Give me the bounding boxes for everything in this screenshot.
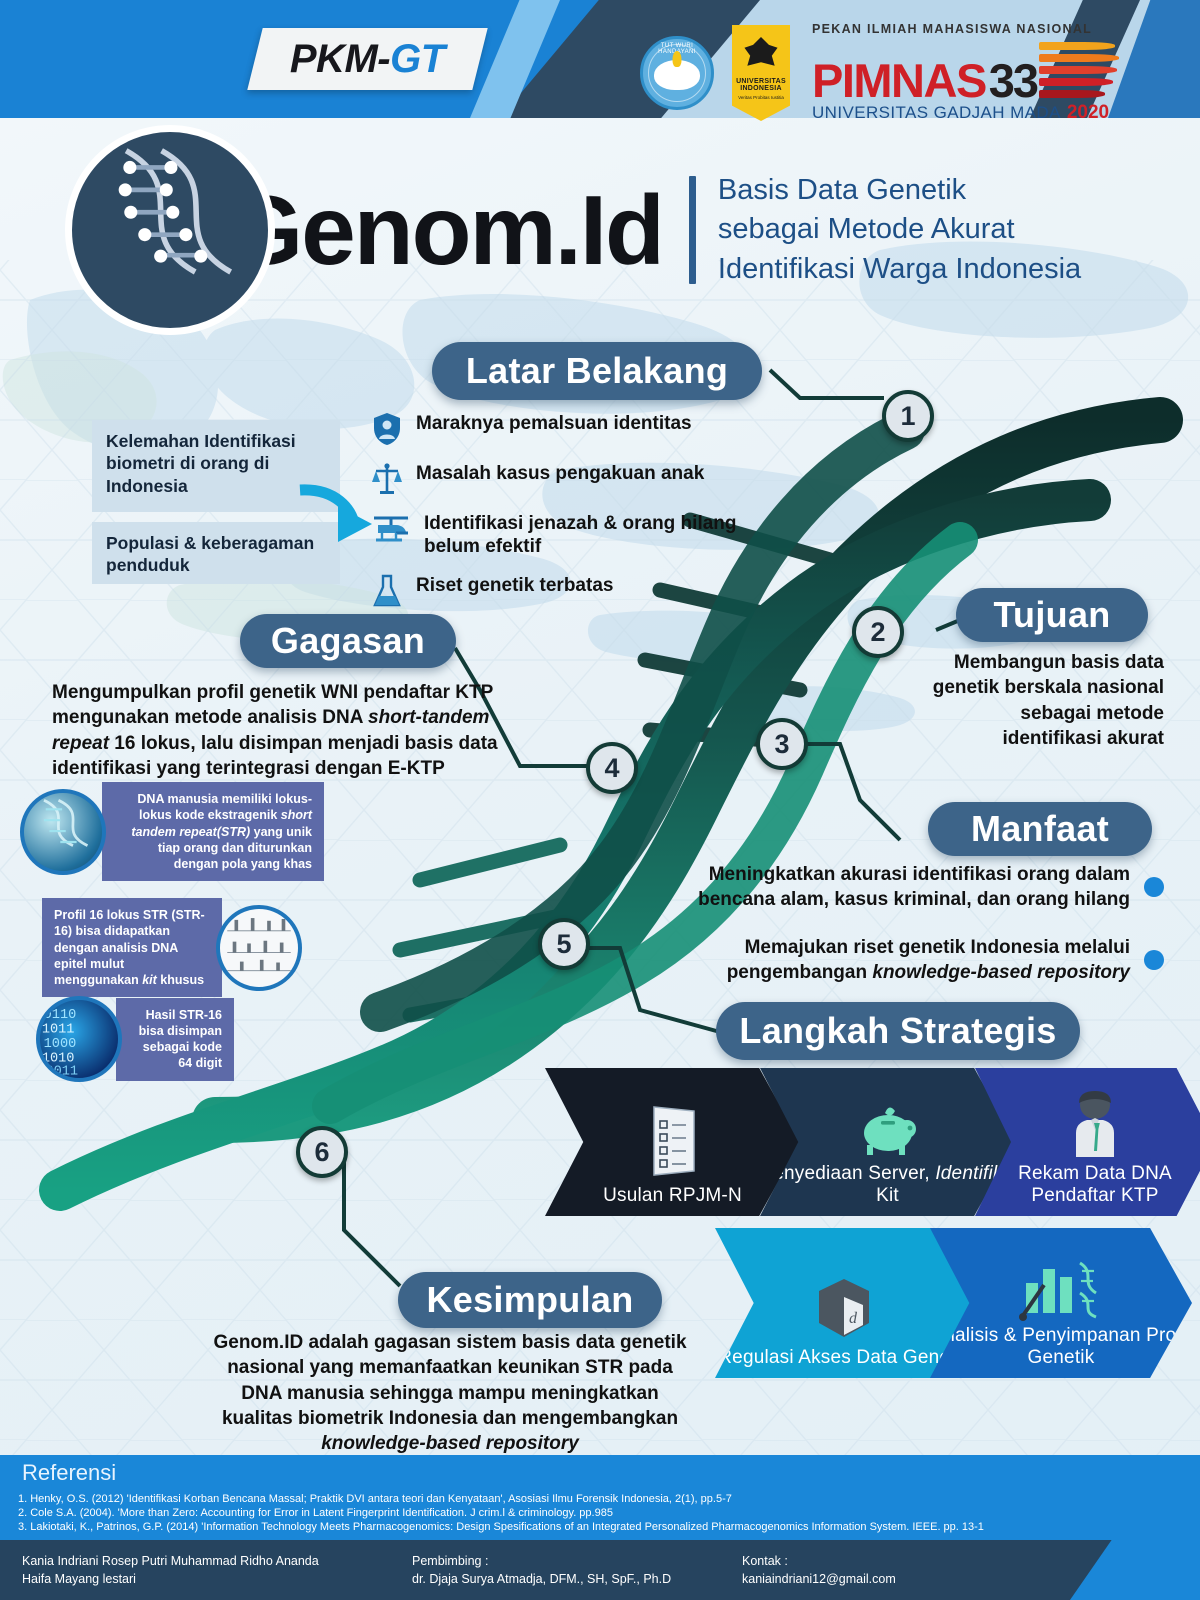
step-chevron-3: d Regulasi Akses Data Genetik bbox=[715, 1228, 973, 1378]
tut-wuri-handayani-logo-icon: TUT WURI HANDAYANI bbox=[640, 36, 714, 110]
node-6-number: 6 bbox=[314, 1137, 329, 1168]
footer-authors-line-2: Haifa Mayang lestari bbox=[22, 1570, 412, 1588]
node-2: 2 bbox=[852, 606, 904, 658]
gagasan-callout-2: 0110 1011 1000 1010 0011 Hasil STR-16 bi… bbox=[36, 996, 234, 1082]
manfaat-item-0: Meningkatkan akurasi identifikasi orang … bbox=[664, 862, 1164, 913]
program-tag-accent: GT bbox=[390, 37, 445, 81]
tujuan-label: Tujuan bbox=[993, 594, 1110, 636]
step-1-post: Kit bbox=[876, 1185, 899, 1206]
section-heading-tujuan: Tujuan bbox=[956, 588, 1148, 642]
kesimpulan-body-pre: Genom.ID adalah gagasan sistem basis dat… bbox=[213, 1332, 686, 1429]
svg-text:1000: 1000 bbox=[44, 1037, 77, 1052]
section-heading-kesimpulan: Kesimpulan bbox=[398, 1272, 662, 1328]
gagasan-body: Mengumpulkan profil genetik WNI pendafta… bbox=[52, 680, 544, 781]
node-3: 3 bbox=[756, 718, 808, 770]
piggy-bank-icon bbox=[855, 1097, 921, 1159]
section-heading-langkah-strategis: Langkah Strategis bbox=[716, 1002, 1080, 1060]
pimnas-tagline: PEKAN ILMIAH MAHASISWA NASIONAL bbox=[812, 22, 1119, 36]
step-3-label: Regulasi Akses Data Genetik bbox=[718, 1347, 969, 1368]
step-chevron-1: Penyediaan Server, Identifiler Kit bbox=[760, 1068, 1015, 1216]
step-1-pre: Penyediaan Server, bbox=[760, 1163, 935, 1184]
footer-content: Kania Indriani Rosep Putri Muhammad Ridh… bbox=[0, 1540, 1200, 1600]
gagasan-callout-2-text: Hasil STR-16 bisa disimpan sebagai kode … bbox=[116, 998, 234, 1081]
pimnas-year: 2020 bbox=[1067, 102, 1109, 124]
makara-icon bbox=[743, 37, 779, 73]
subtitle-line-1: Basis Data Genetik bbox=[718, 171, 1081, 210]
node-6: 6 bbox=[296, 1126, 348, 1178]
step-chevron-0: Usulan RPJM-N bbox=[545, 1068, 800, 1216]
footer-authors: Kania Indriani Rosep Putri Muhammad Ridh… bbox=[22, 1552, 412, 1588]
binary-code-photo-icon: 0110 1011 1000 1010 0011 bbox=[36, 996, 122, 1082]
gagasan-callout-1-text: Profil 16 lokus STR (STR-16) bisa didapa… bbox=[42, 898, 222, 997]
gagasan-body-post: 16 lokus, lalu disimpan menjadi basis da… bbox=[52, 733, 498, 779]
footer-supervisor: Pembimbing : dr. Djaja Surya Atmadja, DF… bbox=[412, 1552, 742, 1588]
references-list: 1. Henky, O.S. (2012) 'Identifikasi Korb… bbox=[18, 1492, 1198, 1534]
gagasan-callout-1: Profil 16 lokus STR (STR-16) bisa didapa… bbox=[42, 898, 302, 997]
bullet-item-3: Riset genetik terbatas bbox=[372, 574, 772, 608]
step-2-pre: Rekam Data DNA Pendaftar KTP bbox=[1018, 1163, 1172, 1205]
bullet-item-0: Maraknya pemalsuan identitas bbox=[372, 412, 772, 446]
dna-logo-icon bbox=[72, 132, 268, 328]
node-5: 5 bbox=[538, 918, 590, 970]
bullet-label-3: Riset genetik terbatas bbox=[416, 574, 613, 597]
checklist-document-icon bbox=[642, 1105, 704, 1179]
section-heading-manfaat: Manfaat bbox=[928, 802, 1152, 856]
manfaat-item-0-text: Meningkatkan akurasi identifikasi orang … bbox=[664, 862, 1130, 913]
step-2-label: Rekam Data DNA Pendaftar KTP bbox=[975, 1163, 1200, 1206]
callout-1-em: kit bbox=[142, 973, 157, 987]
program-tag: PKM-GT bbox=[247, 28, 487, 90]
references-title: Referensi bbox=[22, 1460, 116, 1486]
node-2-number: 2 bbox=[870, 617, 885, 648]
genom-id-logo-mark bbox=[65, 125, 275, 335]
section-heading-gagasan: Gagasan bbox=[240, 614, 456, 668]
pimnas-edition-number: 33 bbox=[989, 59, 1037, 102]
step-4-label: Analisis & Penyimpanan Profil Genetik bbox=[930, 1325, 1192, 1368]
bullet-label-0: Maraknya pemalsuan identitas bbox=[416, 412, 692, 435]
logos-row: TUT WURI HANDAYANI UNIVERSITAS INDONESIA… bbox=[640, 22, 1119, 124]
manfaat-bullet-dot-1 bbox=[1144, 950, 1164, 970]
svg-text:0011: 0011 bbox=[45, 1064, 78, 1078]
footer-contact-value: kaniaindriani12@gmail.com bbox=[742, 1570, 1122, 1588]
manfaat-bullet-dot-0 bbox=[1144, 877, 1164, 897]
callout-2-pre: Hasil STR-16 bisa disimpan sebagai kode … bbox=[139, 1008, 222, 1071]
reference-item-1: 2. Cole S.A. (2004). 'More than Zero: Ac… bbox=[18, 1506, 1198, 1520]
manfaat-item-1-text: Memajukan riset genetik Indonesia melalu… bbox=[664, 935, 1130, 986]
footer-supervisor-name: dr. Djaja Surya Atmadja, DFM., SH, SpF.,… bbox=[412, 1570, 742, 1588]
kesimpulan-label: Kesimpulan bbox=[426, 1279, 633, 1321]
latar-belakang-label: Latar Belakang bbox=[466, 350, 728, 392]
bullet-item-2: Identifikasi jenazah & orang hilang belu… bbox=[372, 512, 772, 558]
reference-item-2: 3. Lakiotaki, K., Patrinos, G.P. (2014) … bbox=[18, 1520, 1198, 1534]
dna-strand-photo-icon bbox=[20, 789, 106, 875]
str-electropherogram-diagram-icon bbox=[216, 905, 302, 991]
curved-arrow-icon bbox=[292, 484, 382, 548]
manfaat-item-1: Memajukan riset genetik Indonesia melalu… bbox=[664, 935, 1164, 986]
bullet-label-2: Identifikasi jenazah & orang hilang belu… bbox=[424, 512, 772, 558]
manfaat-1-em: knowledge-based repository bbox=[872, 962, 1130, 983]
svg-text:d: d bbox=[849, 1310, 858, 1327]
node-1: 1 bbox=[882, 390, 934, 442]
gagasan-callout-0: DNA manusia memiliki lokus-lokus kode ek… bbox=[20, 782, 324, 881]
footer-contact: Kontak : kaniaindriani12@gmail.com bbox=[742, 1552, 1122, 1588]
kesimpulan-body-em: knowledge-based repository bbox=[321, 1433, 579, 1454]
footer-supervisor-label: Pembimbing : bbox=[412, 1552, 742, 1570]
section-heading-latar-belakang: Latar Belakang bbox=[432, 342, 762, 400]
shield-person-icon bbox=[372, 412, 402, 446]
title-divider bbox=[689, 176, 696, 284]
gagasan-label: Gagasan bbox=[271, 620, 425, 662]
subtitle-line-2: sebagai Metode Akurat bbox=[718, 210, 1081, 249]
callout-1-post: khusus bbox=[157, 973, 204, 987]
footer-authors-line-1: Kania Indriani Rosep Putri Muhammad Ridh… bbox=[22, 1552, 412, 1570]
node-3-number: 3 bbox=[774, 729, 789, 760]
person-id-icon bbox=[1066, 1089, 1124, 1159]
latar-belakang-bullets: Maraknya pemalsuan identitas Masalah kas… bbox=[372, 412, 772, 624]
step-0-pre: Usulan RPJM-N bbox=[603, 1185, 742, 1206]
svg-text:0110: 0110 bbox=[44, 1008, 77, 1023]
pimnas-university: UNIVERSITAS GADJAH MADA bbox=[812, 103, 1061, 123]
subtitle-line-3: Identifikasi Warga Indonesia bbox=[718, 250, 1081, 289]
tujuan-body: Membangun basis data genetik berskala na… bbox=[916, 650, 1164, 751]
universitas-indonesia-logo-icon: UNIVERSITAS INDONESIA Veritas Probitas I… bbox=[732, 25, 790, 121]
pimnas-wordmark: PIMNAS bbox=[812, 59, 986, 102]
bullet-item-1: Masalah kasus pengakuan anak bbox=[372, 462, 772, 496]
svg-text:1011: 1011 bbox=[42, 1023, 75, 1038]
poster-subtitle: Basis Data Genetik sebagai Metode Akurat… bbox=[718, 171, 1081, 289]
pimnas-flag-icon bbox=[1039, 36, 1119, 102]
pimnas-logo: PEKAN ILMIAH MAHASISWA NASIONAL PIMNAS 3… bbox=[812, 22, 1119, 124]
infographic-poster: PKM-GT TUT WURI HANDAYANI UNIVERSITAS IN… bbox=[0, 0, 1200, 1600]
step-3-pre: Regulasi Akses Data Genetik bbox=[718, 1347, 969, 1368]
node-4: 4 bbox=[586, 742, 638, 794]
manfaat-0-pre: Meningkatkan akurasi identifikasi orang … bbox=[698, 864, 1130, 910]
step-1-label: Penyediaan Server, Identifiler Kit bbox=[760, 1163, 1015, 1206]
ui-label-3: Veritas Probitas Iustitia bbox=[738, 95, 784, 100]
reference-item-0: 1. Henky, O.S. (2012) 'Identifikasi Korb… bbox=[18, 1492, 1198, 1506]
ui-label-1: UNIVERSITAS bbox=[736, 78, 786, 85]
manfaat-label: Manfaat bbox=[971, 808, 1109, 850]
program-tag-text: PKM- bbox=[290, 37, 390, 81]
node-1-number: 1 bbox=[900, 401, 915, 432]
brand-name: Genom.Id bbox=[227, 181, 663, 279]
footer-contact-label: Kontak : bbox=[742, 1552, 1122, 1570]
manfaat-items: Meningkatkan akurasi identifikasi orang … bbox=[664, 862, 1164, 985]
gagasan-callout-0-text: DNA manusia memiliki lokus-lokus kode ek… bbox=[102, 782, 324, 881]
flask-icon bbox=[372, 574, 402, 608]
node-4-number: 4 bbox=[604, 753, 619, 784]
bar-chart-dna-icon bbox=[1018, 1255, 1104, 1321]
langkah-strategis-label: Langkah Strategis bbox=[739, 1010, 1056, 1052]
step-0-label: Usulan RPJM-N bbox=[603, 1185, 742, 1206]
node-5-number: 5 bbox=[556, 929, 571, 960]
step-4-pre: Analisis & Penyimpanan Profil Genetik bbox=[931, 1325, 1190, 1367]
kesimpulan-body: Genom.ID adalah gagasan sistem basis dat… bbox=[212, 1330, 688, 1456]
bullet-label-1: Masalah kasus pengakuan anak bbox=[416, 462, 704, 485]
poster-title-block: Genom.Id Basis Data Genetik sebagai Meto… bbox=[40, 150, 1140, 310]
data-cube-icon: d bbox=[813, 1275, 875, 1343]
ui-label-2: INDONESIA bbox=[740, 85, 782, 92]
